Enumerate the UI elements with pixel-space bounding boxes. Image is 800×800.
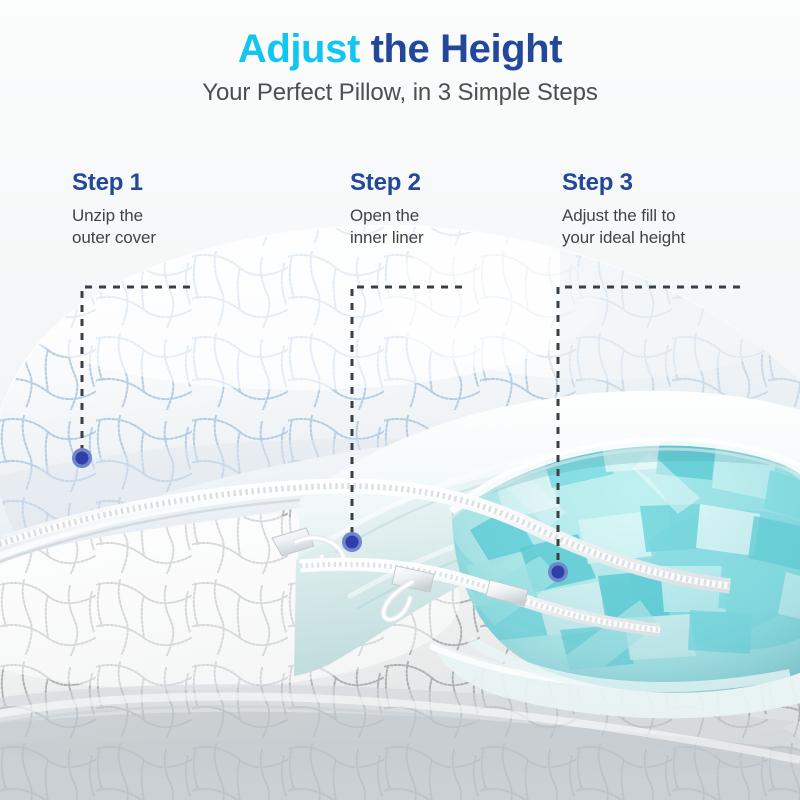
step-callout-3: Step 3 Adjust the fill to your ideal hei… (562, 170, 685, 250)
step-1-title: Step 1 (72, 170, 156, 196)
page-title: Adjust the Height (0, 28, 800, 70)
title-accent-word: Adjust (238, 27, 360, 71)
step-2-description: Open the inner liner (350, 205, 424, 249)
step-2-title: Step 2 (350, 170, 424, 196)
infographic-canvas: Adjust the Height Your Perfect Pillow, i… (0, 0, 800, 800)
step-3-title: Step 3 (562, 170, 685, 196)
pillow-product-photo (0, 0, 800, 800)
step-caption-group: Step 1 Unzip the outer cover Step 2 Open… (0, 170, 800, 280)
step-1-description: Unzip the outer cover (72, 205, 156, 249)
header: Adjust the Height Your Perfect Pillow, i… (0, 0, 800, 107)
page-subtitle: Your Perfect Pillow, in 3 Simple Steps (0, 79, 800, 107)
step-3-description: Adjust the fill to your ideal height (562, 205, 685, 249)
step-callout-2: Step 2 Open the inner liner (350, 170, 424, 250)
title-main-words: the Height (371, 27, 563, 71)
step-callout-1: Step 1 Unzip the outer cover (72, 170, 156, 250)
